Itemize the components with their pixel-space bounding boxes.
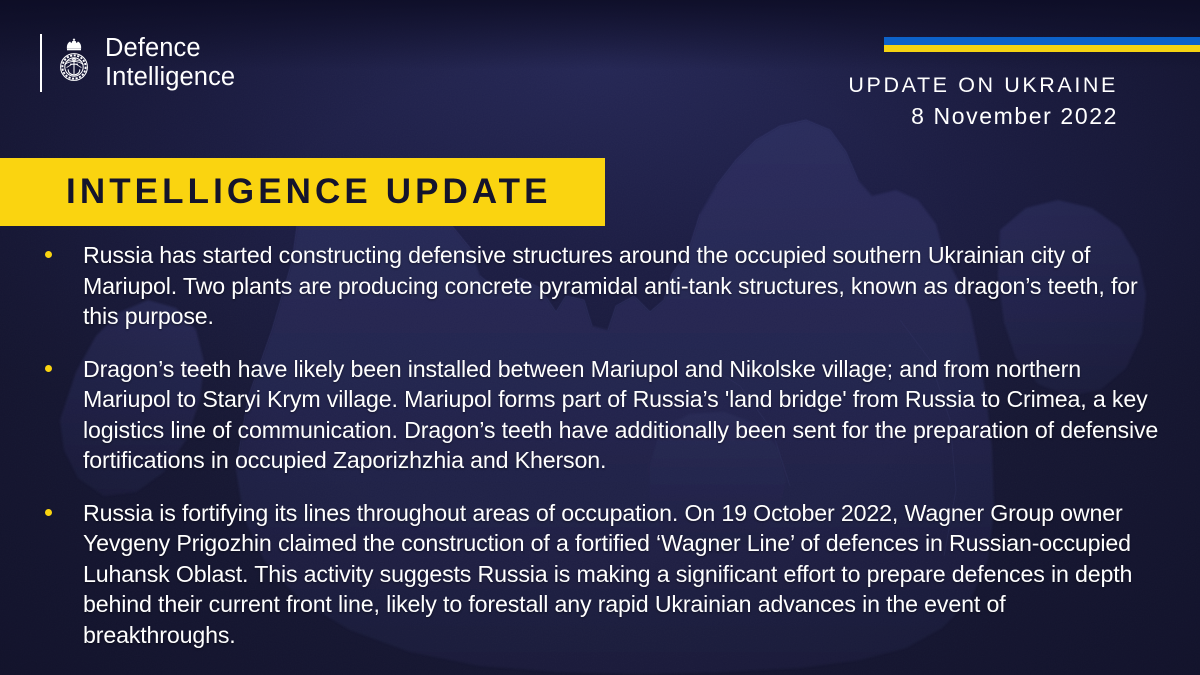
bullet-item: Russia is fortifying its lines throughou… xyxy=(0,498,1200,651)
banner-label: INTELLIGENCE UPDATE xyxy=(0,172,552,212)
logo-line-defence: Defence xyxy=(105,34,235,63)
bullet-text: Russia has started constructing defensiv… xyxy=(83,240,1164,332)
bullet-dot-icon xyxy=(45,251,52,258)
bullet-text: Russia is fortifying its lines throughou… xyxy=(83,498,1164,651)
flag-yellow-stripe xyxy=(884,45,1200,53)
bullet-text: Dragon’s teeth have likely been installe… xyxy=(83,354,1164,476)
defence-intelligence-crest-icon xyxy=(56,36,92,90)
header-date: 8 November 2022 xyxy=(848,100,1118,132)
defence-intelligence-logo: Defence Intelligence xyxy=(40,34,235,92)
header-title: UPDATE ON UKRAINE xyxy=(848,70,1118,100)
header-right-block: UPDATE ON UKRAINE 8 November 2022 xyxy=(848,70,1118,132)
bullet-item: Russia has started constructing defensiv… xyxy=(0,240,1200,332)
logo-divider xyxy=(40,34,42,92)
ukraine-flag-bar xyxy=(884,37,1200,52)
logo-text: Defence Intelligence xyxy=(105,34,235,92)
intelligence-update-graphic: Defence Intelligence UPDATE ON UKRAINE 8… xyxy=(0,0,1200,675)
bullet-dot-icon xyxy=(45,509,52,516)
bullet-item: Dragon’s teeth have likely been installe… xyxy=(0,354,1200,476)
intelligence-update-banner: INTELLIGENCE UPDATE xyxy=(0,158,605,226)
flag-blue-stripe xyxy=(884,37,1200,45)
logo-line-intelligence: Intelligence xyxy=(105,63,235,92)
bullet-list: Russia has started constructing defensiv… xyxy=(0,240,1200,672)
bullet-dot-icon xyxy=(45,365,52,372)
